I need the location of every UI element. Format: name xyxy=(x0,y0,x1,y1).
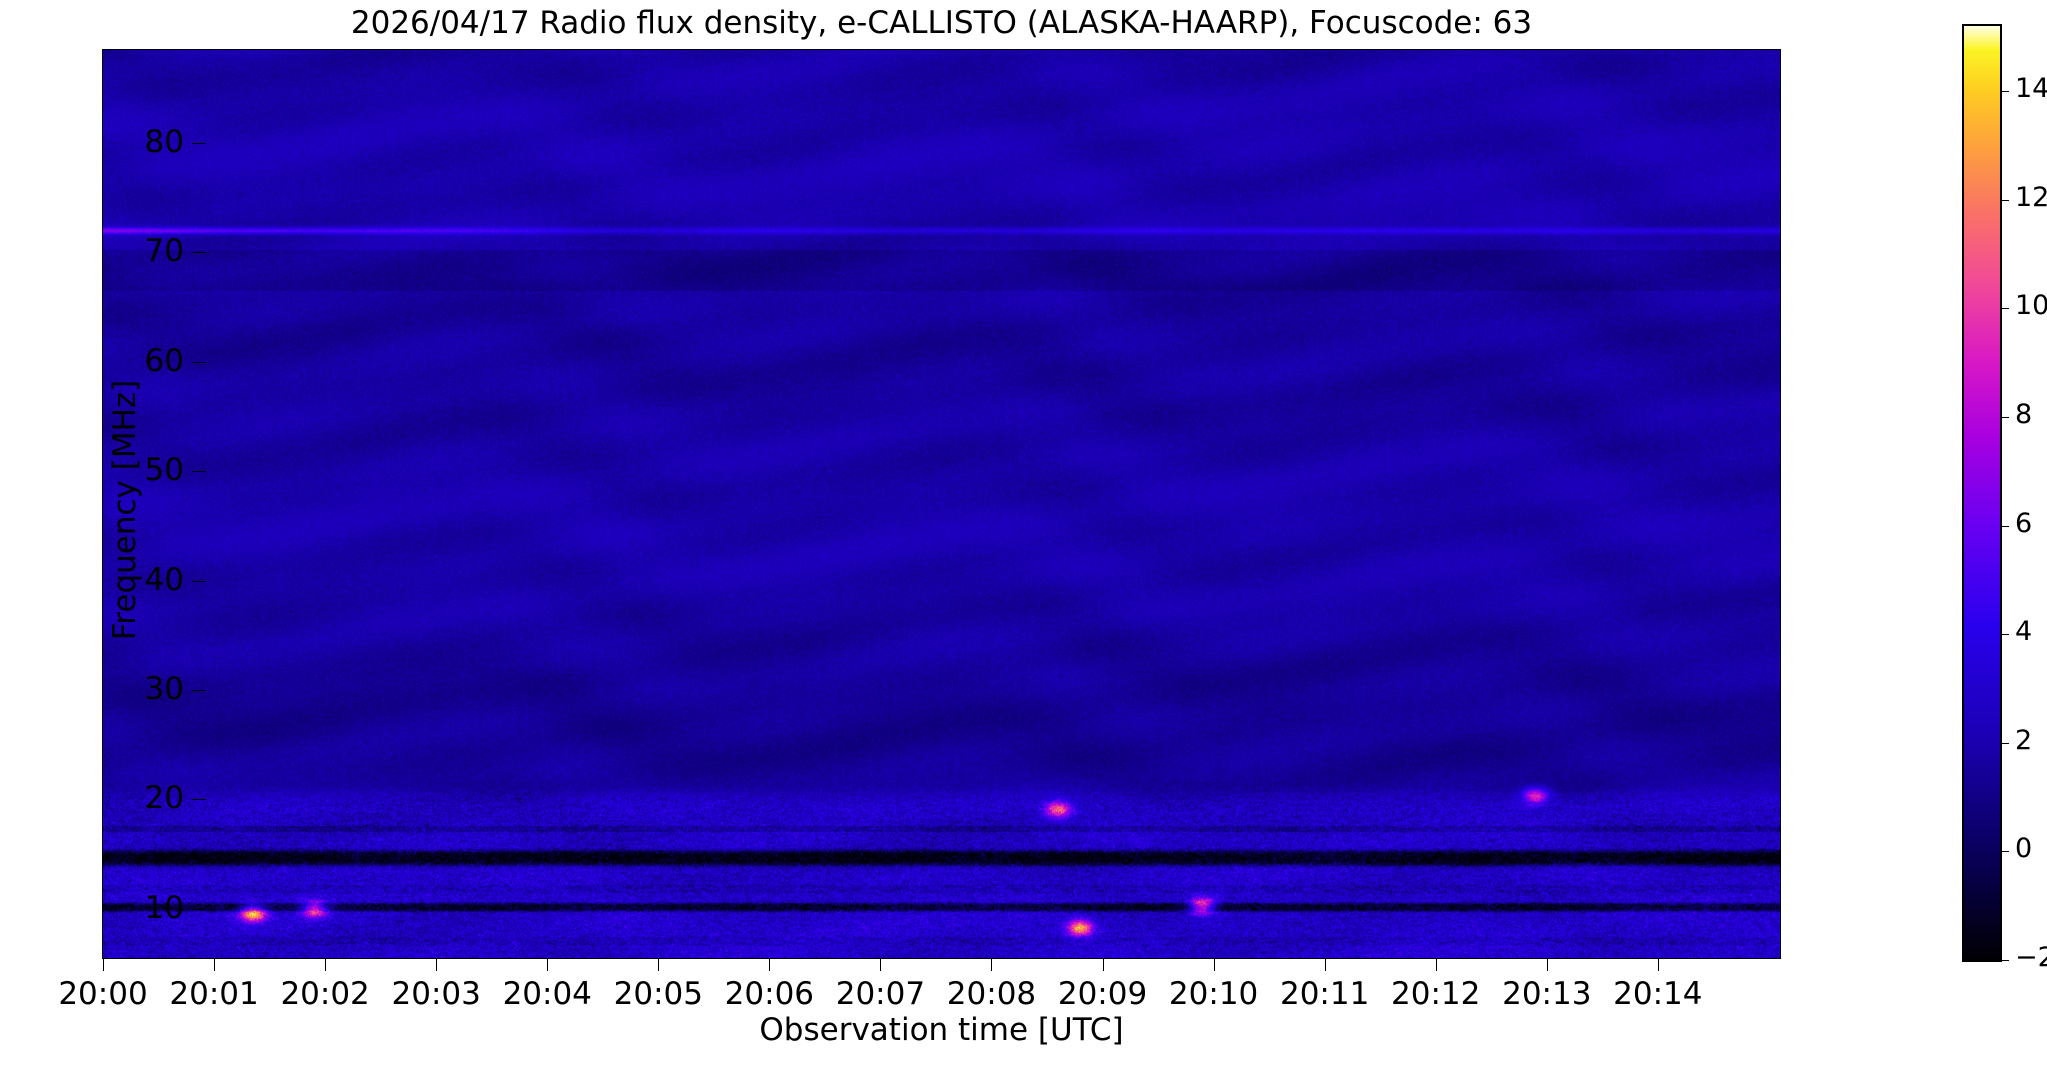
y-tick-mark xyxy=(192,581,206,582)
colorbar-tick-label: 8 xyxy=(2015,399,2032,430)
x-tick-mark xyxy=(991,958,992,971)
x-tick-mark xyxy=(880,958,881,971)
colorbar-tick-mark xyxy=(2000,308,2009,309)
colorbar-tick-mark xyxy=(2000,200,2009,201)
colorbar-tick-mark xyxy=(2000,634,2009,635)
spectrogram-axes[interactable]: 8070605040302010 20:0020:0120:0220:0320:… xyxy=(102,49,1781,959)
y-tick-label: 40 xyxy=(145,562,184,598)
x-tick-mark xyxy=(103,958,104,971)
colorbar-tick-mark xyxy=(2000,91,2009,92)
x-tick-mark xyxy=(1214,958,1215,971)
colorbar-tick-mark xyxy=(2000,743,2009,744)
colorbar-tick-label: 10 xyxy=(2015,290,2047,321)
y-tick-label: 80 xyxy=(145,124,184,160)
spectrogram-heatmap[interactable] xyxy=(103,50,1780,958)
x-tick-mark xyxy=(1103,958,1104,971)
y-tick-label: 10 xyxy=(145,890,184,926)
colorbar-tick-label: 6 xyxy=(2015,508,2032,539)
colorbar-tick-label: 0 xyxy=(2015,833,2032,864)
x-tick-mark xyxy=(214,958,215,971)
y-tick-label: 50 xyxy=(145,452,184,488)
y-tick-mark xyxy=(192,909,206,910)
x-tick-mark xyxy=(1658,958,1659,971)
figure-canvas: 2026/04/17 Radio flux density, e-CALLIST… xyxy=(0,0,2047,1067)
colorbar-tick-mark xyxy=(2000,851,2009,852)
y-tick-label: 20 xyxy=(145,780,184,816)
colorbar-tick-mark xyxy=(2000,526,2009,527)
colorbar-tick-label: −2 xyxy=(2015,942,2047,973)
y-tick-mark xyxy=(192,799,206,800)
y-tick-mark xyxy=(192,252,206,253)
x-tick-mark xyxy=(325,958,326,971)
colorbar[interactable]: 14121086420−2 xyxy=(1962,24,2002,962)
y-axis-label: Frequency [MHz] xyxy=(107,280,143,740)
colorbar-tick-mark xyxy=(2000,417,2009,418)
y-tick-mark xyxy=(192,362,206,363)
colorbar-tick-mark xyxy=(2000,960,2009,961)
x-tick-label: 20:14 xyxy=(1568,976,1748,1012)
colorbar-tick-label: 4 xyxy=(2015,616,2032,647)
y-tick-mark xyxy=(192,471,206,472)
x-tick-mark xyxy=(436,958,437,971)
colorbar-gradient xyxy=(1964,26,2000,960)
colorbar-tick-label: 12 xyxy=(2015,182,2047,213)
x-tick-mark xyxy=(1325,958,1326,971)
x-tick-mark xyxy=(1436,958,1437,971)
colorbar-tick-label: 14 xyxy=(2015,73,2047,104)
x-tick-mark xyxy=(547,958,548,971)
y-tick-label: 30 xyxy=(145,671,184,707)
colorbar-tick-label: 2 xyxy=(2015,725,2032,756)
x-axis-label: Observation time [UTC] xyxy=(103,1012,1780,1048)
page-title: 2026/04/17 Radio flux density, e-CALLIST… xyxy=(103,4,1780,42)
x-tick-mark xyxy=(769,958,770,971)
y-tick-label: 60 xyxy=(145,343,184,379)
x-tick-mark xyxy=(1547,958,1548,971)
y-tick-mark xyxy=(192,143,206,144)
y-tick-label: 70 xyxy=(145,233,184,269)
x-tick-mark xyxy=(658,958,659,971)
y-tick-mark xyxy=(192,690,206,691)
